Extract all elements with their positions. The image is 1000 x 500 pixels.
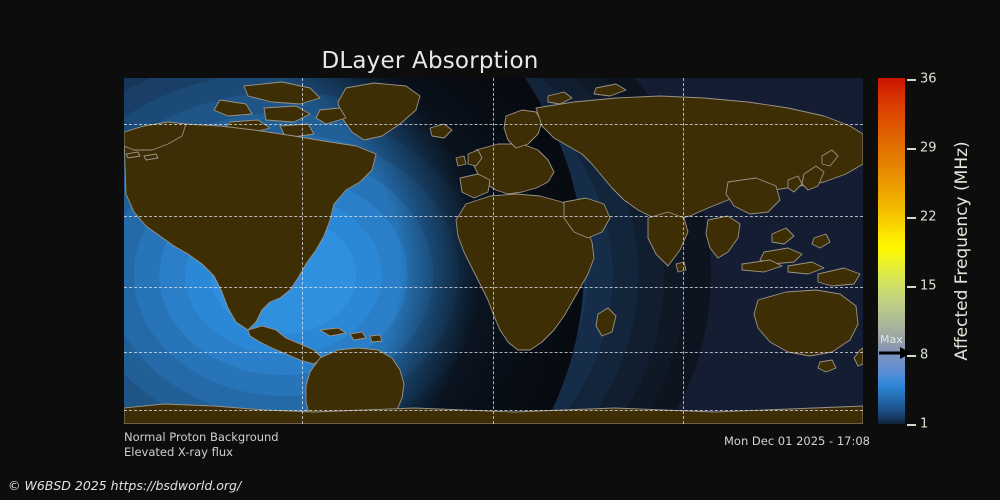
colorbar-tick-label: 1 [920,418,928,431]
colorbar-tick-mark [907,217,916,219]
colorbar-tick-mark [907,148,916,150]
world-map[interactable] [124,78,863,424]
landmass-layer [124,78,863,424]
colorbar-tick-mark [907,286,916,288]
colorbar-tick-label: 8 [920,349,928,362]
colorbar-tick-label: 36 [920,73,937,86]
colorbar-tick-label: 29 [920,142,937,155]
colorbar-tick-mark [907,79,916,81]
note-proton-background: Normal Proton Background [124,430,279,444]
page-title: DLayer Absorption [0,48,860,74]
colorbar-gradient [878,78,905,424]
colorbar-axis-label: Affected Frequency (MHz) [952,78,978,424]
copyright-notice: © W6BSD 2025 https://bsdworld.org/ [8,478,241,493]
colorbar[interactable]: 36 29 22 15 8 1 Max [878,78,905,424]
colorbar-tick-mark [907,424,916,426]
colorbar-tick-label: 15 [920,280,937,293]
timestamp: Mon Dec 01 2025 - 17:08 [724,434,870,448]
colorbar-tick-label: 22 [920,211,937,224]
colorbar-tick-mark [907,355,916,357]
note-xray-flux: Elevated X-ray flux [124,445,233,459]
